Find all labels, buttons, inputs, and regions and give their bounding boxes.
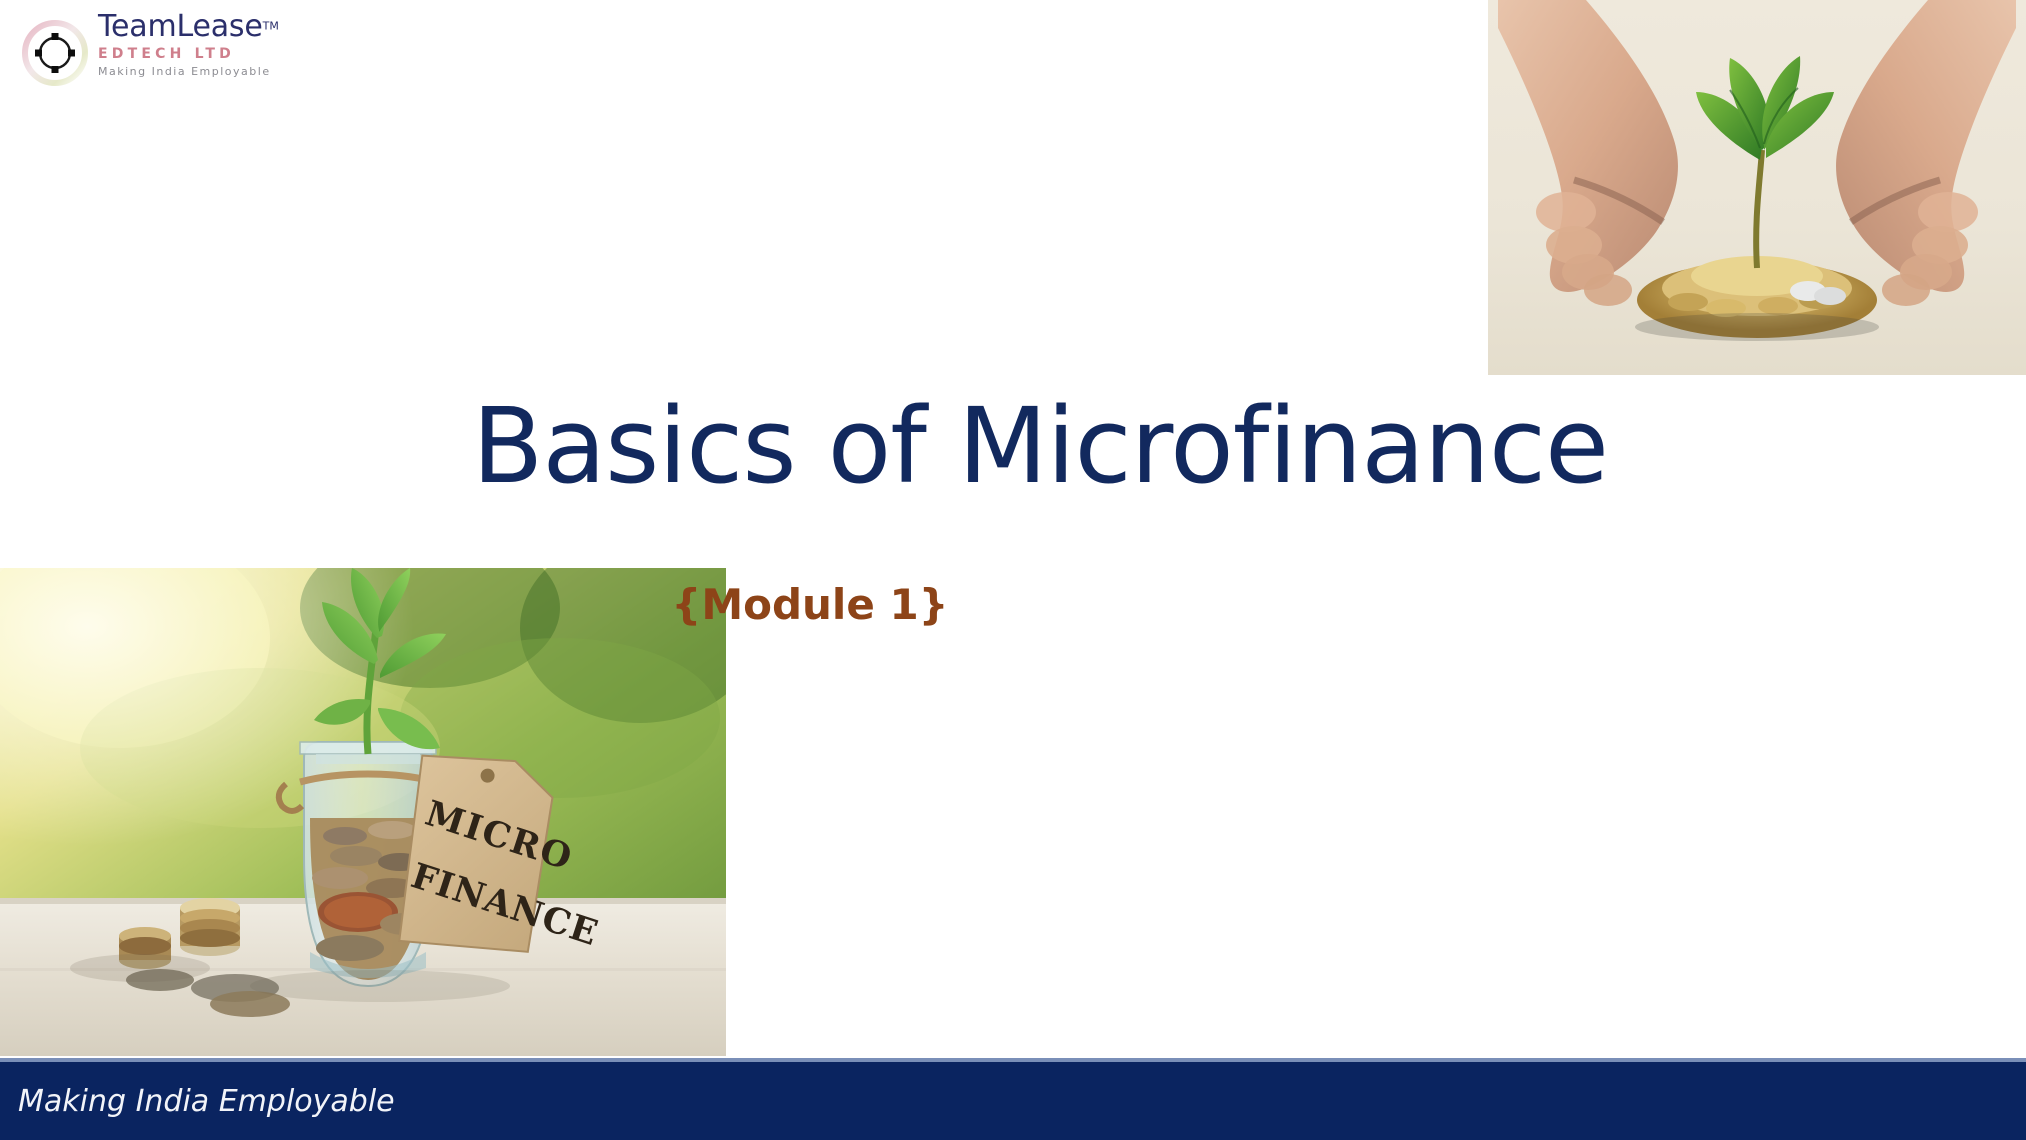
teamlease-circle-mark-icon — [18, 16, 92, 90]
hands-holding-sprout-over-coins-photo — [1488, 0, 2026, 375]
page-title: Basics of Microfinance — [430, 390, 1650, 502]
footer-tagline: Making India Employable — [18, 1084, 395, 1119]
logo-brand-line: TeamLeaseTM — [98, 12, 348, 42]
micro-finance-coin-jar-photo: MICRO FINANCE — [0, 568, 726, 1056]
logo-brand-name: TeamLease — [98, 12, 263, 42]
presentation-slide: TeamLeaseTM EDTECH LTD Making India Empl… — [0, 0, 2026, 1140]
footer-bar: Making India Employable — [0, 1058, 2026, 1140]
module-subtitle: {Module 1} — [430, 580, 1190, 629]
teamlease-logo: TeamLeaseTM EDTECH LTD Making India Empl… — [18, 12, 348, 94]
logo-tagline: Making India Employable — [98, 65, 348, 78]
logo-division: EDTECH LTD — [98, 46, 348, 62]
trademark-icon: TM — [263, 20, 279, 33]
